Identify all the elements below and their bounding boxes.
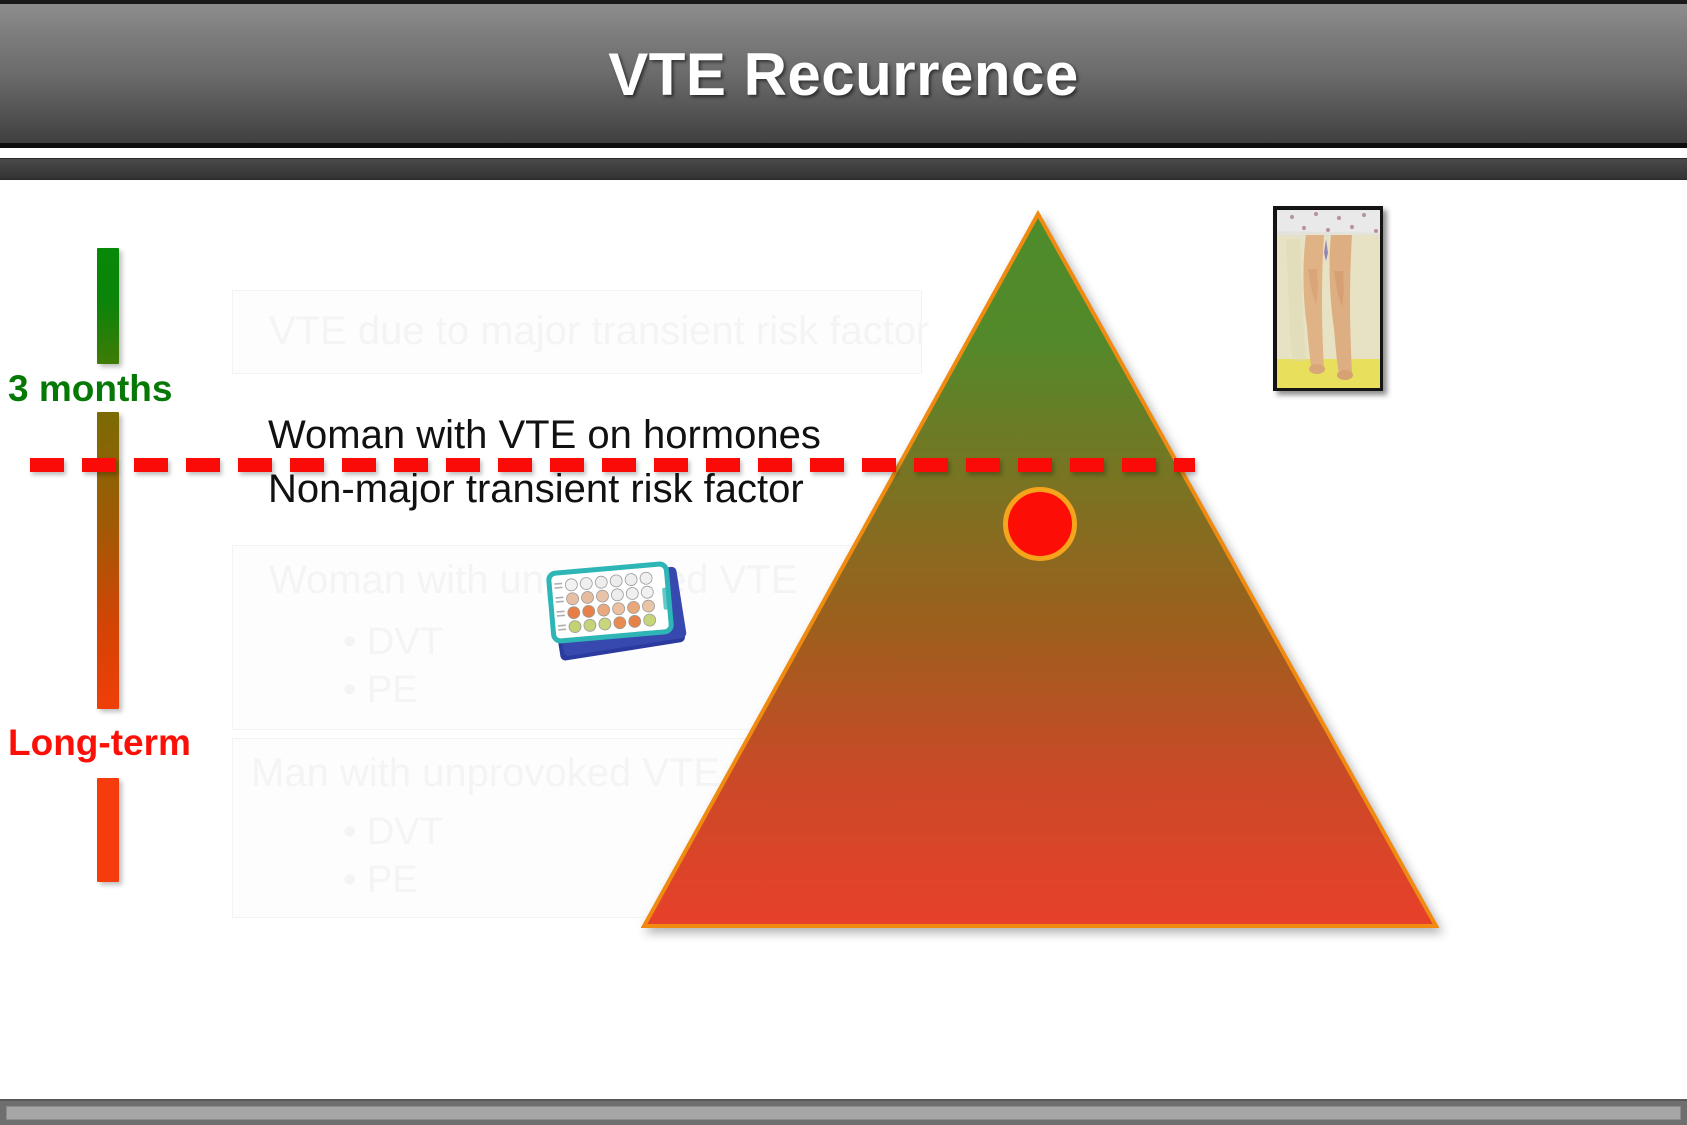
timeline-segment-short — [97, 248, 119, 364]
footer-bar — [0, 1099, 1687, 1125]
timeline-segment-long — [97, 778, 119, 882]
footer-progress-track — [6, 1106, 1681, 1120]
clinical-leg-photo — [1273, 206, 1383, 391]
page-title: VTE Recurrence — [0, 0, 1687, 148]
ghost-man-bullet-dvt: • DVT — [343, 811, 443, 854]
timeline-label-3-months: 3 months — [8, 368, 172, 410]
label-non-major-transient: Non-major transient risk factor — [268, 467, 804, 512]
timeline-label-long-term: Long-term — [8, 722, 191, 764]
risk-position-marker-icon — [1003, 487, 1077, 561]
header-divider-bar — [0, 158, 1687, 180]
ghost-man-bullet-pe: • PE — [343, 859, 418, 902]
label-woman-vte-hormones: Woman with VTE on hormones — [268, 413, 821, 458]
oral-contraceptive-pill-pack-icon — [536, 556, 696, 666]
timeline-segment-transition — [97, 412, 119, 709]
ghost-woman-bullet-dvt: • DVT — [343, 621, 443, 664]
leg-photo-illustration — [1276, 209, 1383, 391]
ghost-woman-bullet-pe: • PE — [343, 669, 418, 712]
